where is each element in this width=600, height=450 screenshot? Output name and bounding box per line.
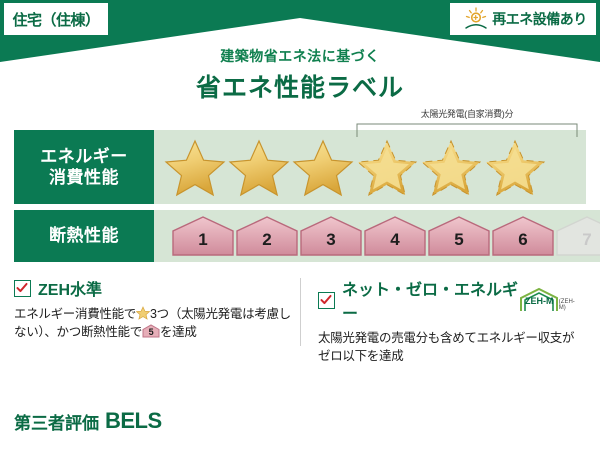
net-zero-criteria-body: 太陽光発電の売電分も含めてエネルギー収支がゼロ以下を達成 [318, 329, 580, 365]
net-zero-criteria-header: ネット・ゼロ・エネルギー ZEH-M (ZEH-M) [318, 276, 580, 324]
renewable-tag-label: 再エネ設備あり [492, 9, 587, 29]
grade-number: 1 [170, 230, 236, 250]
criteria-section: ZEH水準 エネルギー消費性能で3つ（太陽光発電は考慮しない）、かつ断熱性能で5… [14, 276, 586, 365]
sun-icon [463, 6, 489, 32]
criteria-divider [300, 278, 301, 346]
grade-house-on: 4 [362, 214, 428, 258]
bels-number: 0281571-01 [196, 415, 255, 427]
energy-performance-label: エネルギー 消費性能 [14, 130, 154, 204]
evaluation-date-value: 2025年9月29日 [497, 409, 590, 424]
grade-number: 3 [298, 230, 364, 250]
star-filled [164, 137, 226, 197]
insulation-performance-row: 断熱性能 1 [14, 210, 586, 262]
grade-number: 5 [426, 230, 492, 250]
grade-house-on: 1 [170, 214, 236, 258]
zeh-criteria-title: ZEH水準 [38, 276, 102, 300]
grade-number: 6 [490, 230, 556, 250]
star-filled [292, 137, 354, 197]
grade-house-inline-value: 5 [142, 326, 160, 339]
zeh-m-badge-text: ZEH-M [517, 296, 561, 306]
star-solar [356, 137, 418, 197]
energy-performance-row: エネルギー 消費性能 太陽光発電(自家消費)分 [14, 130, 586, 204]
grade-number: 2 [234, 230, 300, 250]
solar-bracket-label: 太陽光発電(自家消費)分 [356, 107, 578, 120]
star-solar [484, 137, 546, 197]
insulation-label-text: 断熱性能 [49, 225, 119, 246]
zeh-criteria-header: ZEH水準 [14, 276, 294, 300]
energy-rating-area: 太陽光発電(自家消費)分 [154, 130, 586, 204]
grade-number: 7 [554, 230, 600, 250]
star-icon [136, 306, 150, 320]
zeh-m-badge-sub: (ZEH-M) [559, 299, 580, 311]
star-rating-strip [154, 130, 586, 204]
energy-label-line2: 消費性能 [49, 167, 119, 188]
evaluation-date: 評価日 2025年9月29日 [453, 405, 590, 425]
grade-house-on: 2 [234, 214, 300, 258]
evaluation-id: 10f99c96-7566-4390 [453, 427, 590, 436]
grade-house-on: 5 [426, 214, 492, 258]
insulation-performance-label: 断熱性能 [14, 210, 154, 262]
zeh-body-part3: を達成 [160, 325, 197, 339]
page-title: 省エネ性能ラベル [14, 68, 586, 104]
zeh-m-badge: ZEH-M (ZEH-M) [517, 287, 580, 313]
star-solar [420, 137, 482, 197]
grade-number: 4 [362, 230, 428, 250]
evaluation-date-label: 評価日 [453, 409, 494, 424]
net-zero-criteria-title: ネット・ゼロ・エネルギー [342, 276, 519, 324]
evaluation-info: 評価日 2025年9月29日 10f99c96-7566-4390 [453, 405, 590, 436]
insulation-grade-area: 1 2 3 [154, 210, 600, 262]
bels-en-label: BELS [105, 408, 162, 434]
grade-house-off: 7 [554, 214, 600, 258]
insulation-grade-strip: 1 2 3 [154, 210, 600, 262]
label-content: 建築物省エネ法に基づく 省エネ性能ラベル エネルギー 消費性能 太陽光発電(自家… [14, 46, 586, 394]
zeh-criteria-block: ZEH水準 エネルギー消費性能で3つ（太陽光発電は考慮しない）、かつ断熱性能で5… [14, 276, 300, 365]
label-subtitle: 建築物省エネ法に基づく [14, 46, 586, 66]
grade-house-on: 6 [490, 214, 556, 258]
renewable-equipment-tag: 再エネ設備あり [450, 3, 596, 35]
building-type-tag: 住宅（住棟） [4, 3, 108, 35]
bels-jp-label: 第三者評価 [14, 409, 99, 434]
grade-house-inline-icon: 5 [142, 324, 160, 338]
zeh-body-part1: エネルギー消費性能で [14, 307, 136, 321]
checkbox-checked-icon [318, 292, 335, 309]
checkbox-checked-icon [14, 280, 31, 297]
star-filled [228, 137, 290, 197]
grade-house-on: 3 [298, 214, 364, 258]
energy-label-line1: エネルギー [40, 146, 128, 167]
zeh-criteria-body: エネルギー消費性能で3つ（太陽光発電は考慮しない）、かつ断熱性能で5を達成 [14, 305, 294, 341]
building-type-tag-label: 住宅（住棟） [12, 9, 99, 30]
footer: 第三者評価 BELS 0281571-01 評価日 2025年9月29日 10f… [0, 398, 600, 450]
top-bar: 住宅（住棟） 再エネ設備あり [0, 0, 600, 38]
bels-energy-label: 住宅（住棟） 再エネ設備あり [0, 0, 600, 450]
net-zero-criteria-block: ネット・ゼロ・エネルギー ZEH-M (ZEH-M) 太陽光発電の売電分も含めて… [300, 276, 586, 365]
bels-certification-box: 第三者評価 BELS [6, 406, 170, 436]
